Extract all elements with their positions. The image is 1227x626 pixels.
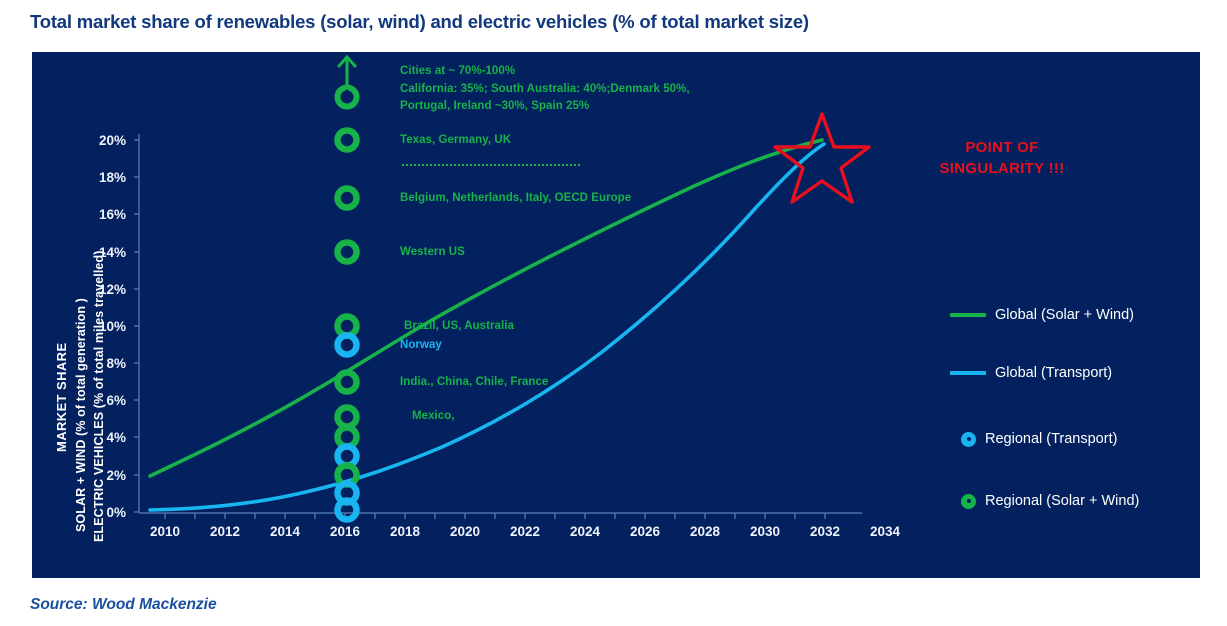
x-tick-label: 2012 [202,524,248,539]
legend-item-regional-solar-wind[interactable]: Regional (Solar + Wind) [950,493,1139,509]
x-tick-label: 2016 [322,524,368,539]
page-title: Total market share of renewables (solar,… [30,11,1190,33]
legend-item-label: Regional (Transport) [985,431,1117,447]
marker-regional-solar-wind [338,243,357,262]
x-axis [139,513,862,519]
singularity-star-icon [775,114,869,202]
y-axis [134,134,139,513]
legend-line-swatch-cyan [950,371,986,375]
annotation-cities: Cities at ~ 70%-100% [400,65,515,77]
legend-item-global-transport[interactable]: Global (Transport) [950,365,1112,381]
marker-regional-solar-wind [338,189,357,208]
y-axis-title: MARKET SHARE [54,342,69,452]
x-tick-label: 2020 [442,524,488,539]
legend-item-global-solar-wind[interactable]: Global (Solar + Wind) [950,307,1134,323]
x-tick-label: 2018 [382,524,428,539]
x-tick-label: 2034 [862,524,908,539]
y-tick-label: 10% [84,319,126,334]
x-tick-label: 2026 [622,524,668,539]
power-symbol-icon [338,88,357,107]
y-tick-label: 18% [84,170,126,185]
marker-regional-solar-wind [338,131,357,150]
y-tick-label: 2% [84,468,126,483]
footer-source: Source: Wood Mackenzie [30,596,217,614]
y-tick-label: 12% [84,282,126,297]
legend-item-label: Global (Transport) [995,365,1112,381]
up-arrow-icon [339,57,355,85]
annotation-regions-1: California: 35%; South Australia: 40%;De… [400,83,690,95]
legend-dot-swatch-cyan [961,432,976,447]
screenshot-root: Total market share of renewables (solar,… [0,0,1227,626]
annotation-regions-2: Portugal, Ireland ~30%, Spain 25% [400,100,589,112]
y-tick-label: 6% [84,393,126,408]
x-tick-label: 2022 [502,524,548,539]
legend-item-label: Regional (Solar + Wind) [985,493,1139,509]
legend-dot-swatch-green [961,494,976,509]
marker-regional-transport [338,501,357,520]
annotation-india: India., China, Chile, France [400,376,548,388]
y-tick-label: 14% [84,245,126,260]
x-tick-label: 2024 [562,524,608,539]
regional-markers [338,131,357,520]
y-tick-label: 4% [84,430,126,445]
x-tick-label: 2014 [262,524,308,539]
marker-regional-transport [338,336,357,355]
annotation-divider [402,164,580,166]
annotation-norway: Norway [400,339,442,351]
y-tick-label: 20% [84,133,126,148]
chart-panel: MARKET SHARE SOLAR + WIND (% of total ge… [32,52,1200,578]
legend-item-regional-transport[interactable]: Regional (Transport) [950,431,1117,447]
y-tick-label: 0% [84,505,126,520]
x-tick-label: 2030 [742,524,788,539]
marker-regional-solar-wind [338,373,357,392]
annotation-singularity: POINT OF SINGULARITY !!! [912,137,1092,179]
legend-item-label: Global (Solar + Wind) [995,307,1134,323]
y-tick-label: 8% [84,356,126,371]
legend-line-swatch-green [950,313,986,317]
annotation-mexico: Mexico, [412,410,455,422]
annotation-texas: Texas, Germany, UK [400,134,511,146]
x-tick-label: 2010 [142,524,188,539]
annotation-brazil: Brazil, US, Australia [404,320,514,332]
y-tick-label: 16% [84,207,126,222]
annotation-belgium: Belgium, Netherlands, Italy, OECD Europe [400,192,631,204]
x-tick-label: 2028 [682,524,728,539]
marker-regional-solar-wind [338,408,357,427]
annotation-western-us: Western US [400,246,465,258]
x-tick-label: 2032 [802,524,848,539]
